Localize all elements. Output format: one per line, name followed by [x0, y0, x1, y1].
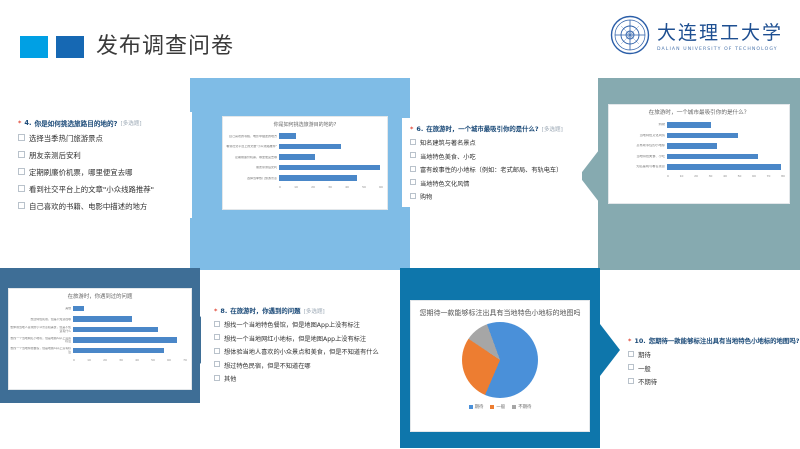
bar-fill: [667, 143, 717, 149]
bar-fill: [73, 348, 164, 354]
option-item[interactable]: 想找一个当地网红小地标，但是地图App上没有标注: [214, 334, 384, 343]
chart-card-q6: 在旅游时，一个城市最吸引你的是什么？ 购物当地特色文化风情富有故事性的小地标当地…: [608, 104, 790, 204]
bar-category-label: 购物: [609, 123, 667, 127]
bar-category-label: 知名建筑与著名景点: [609, 165, 667, 169]
checkbox-icon[interactable]: [18, 185, 25, 192]
axis-tick-label: 40: [723, 174, 727, 178]
bar-fill: [279, 175, 357, 181]
option-label: 不期待: [638, 377, 657, 386]
legend-item: 不期待: [512, 404, 531, 410]
bar-row: 朋友亲测后安利: [223, 163, 383, 172]
bar-row: 想体验当地人喜欢的小众景点和美食，但是不知道有什么: [9, 325, 187, 334]
bar-row: 选择当季热门旅游景点: [223, 174, 383, 183]
bar-fill: [279, 154, 315, 160]
axis-tick-label: 30: [328, 185, 332, 189]
axis-tick-label: 40: [345, 185, 349, 189]
checkbox-icon[interactable]: [628, 378, 634, 384]
bar-category-label: 想找一个当地特色餐馆，但是地图App上没有标注: [9, 347, 73, 354]
bar-track: [279, 132, 383, 141]
bar-fill: [667, 154, 758, 160]
bar-row: 当地特色美食、小吃: [609, 152, 785, 161]
slide-header: 发布调查问卷 大连理工大学 DALIAN UNIVERSITY OF TECHN…: [0, 0, 800, 72]
axis-tick-label: 0: [667, 174, 669, 178]
checkbox-icon[interactable]: [18, 151, 25, 158]
option-label: 想找一个当地网红小地标，但是地图App上没有标注: [224, 334, 366, 343]
bar-chart-q8: 其他想过特色民宿，但是不知道在哪想体验当地人喜欢的小众景点和美食，但是不知道有什…: [9, 304, 191, 362]
option-label: 想找一个当地特色餐馆，但是地图App上没有标注: [224, 320, 360, 329]
option-item[interactable]: 当地特色文化风情: [410, 179, 574, 188]
bar-fill: [279, 165, 380, 171]
axis-tick-label: 20: [311, 185, 315, 189]
bar-row: 自己喜欢的书籍、电影中描述的地方: [223, 132, 383, 141]
checkbox-icon[interactable]: [410, 166, 416, 172]
logo-name-en: DALIAN UNIVERSITY OF TECHNOLOGY: [657, 47, 783, 52]
question-card-q8: * 8. 在旅游时，你遇到的问题 [多选题] 想找一个当地特色餐馆，但是地图Ap…: [206, 300, 392, 389]
option-item[interactable]: 购物: [410, 192, 574, 201]
bar-row: 当地特色文化风情: [609, 131, 785, 140]
option-item[interactable]: 选择当季热门旅游景点: [18, 133, 184, 144]
question-card-q4: * 4. 你是如何挑选旅路目的地的? [多选题] 选择当季热门旅游景点 朋友亲测…: [10, 112, 192, 218]
checkbox-icon[interactable]: [18, 202, 25, 209]
bar-track: [667, 131, 785, 140]
option-item[interactable]: 看到社交平台上的文章"小众线路推荐": [18, 184, 184, 195]
bar-category-label: 想找一个当地网红小地标，但是地图App上没有标注: [9, 337, 73, 344]
bar-category-label: 富有故事性的小地标: [609, 144, 667, 148]
checkbox-icon[interactable]: [214, 321, 220, 327]
arrow-left-teal-icon: [579, 150, 599, 202]
dut-logo-icon: [610, 15, 650, 55]
legend-label: 期待: [475, 404, 484, 410]
option-label: 选择当季热门旅游景点: [29, 133, 103, 144]
question-number: 8.: [220, 307, 227, 315]
university-logo: 大连理工大学 DALIAN UNIVERSITY OF TECHNOLOGY: [610, 12, 788, 58]
bar-fill: [279, 144, 341, 150]
bar-fill: [73, 316, 132, 322]
question-card-q10: * 10. 您期待一款能够标注出具有当地特色小地标的地图吗? 期待 一般 不期待: [620, 330, 792, 392]
bar-chart-q6: 购物当地特色文化风情富有故事性的小地标当地特色美食、小吃知名建筑与著名景点010…: [609, 121, 789, 179]
title-accent-square-dark: [56, 36, 84, 58]
pie-chart-legend: 期待一般不期待: [469, 404, 532, 410]
checkbox-icon[interactable]: [214, 348, 220, 354]
option-label: 自己喜欢的书籍、电影中描述的地方: [29, 201, 147, 212]
axis-tick-label: 70: [767, 174, 771, 178]
chart-x-axis: 010203040506070: [9, 357, 187, 362]
bar-track: [667, 152, 785, 161]
legend-swatch: [490, 405, 494, 409]
option-item[interactable]: 想体验当地人喜欢的小众景点和美食，但是不知道有什么: [214, 347, 384, 356]
legend-item: 一般: [490, 404, 505, 410]
option-label: 想过特色民宿，但是不知道在哪: [224, 361, 311, 370]
bar-row: 想过特色民宿，但是不知道在哪: [9, 315, 187, 324]
bar-row: 其他: [9, 304, 187, 313]
bar-track: [73, 304, 187, 313]
bar-track: [279, 142, 383, 151]
bar-row: 看到社交平台上的文章"小众线路推荐": [223, 142, 383, 151]
option-label: 富有故事性的小地标（例如：老式邮局、有轨电车）: [420, 165, 562, 174]
bar-row: 想找一个当地网红小地标，但是地图App上没有标注: [9, 336, 187, 345]
checkbox-icon[interactable]: [214, 375, 220, 381]
axis-tick-label: 60: [379, 185, 383, 189]
checkbox-icon[interactable]: [18, 168, 25, 175]
bar-row: 定期刷廉价机票，哪里便宜去哪: [223, 153, 383, 162]
axis-tick-label: 50: [738, 174, 742, 178]
legend-swatch: [469, 405, 473, 409]
logo-text-group: 大连理工大学 DALIAN UNIVERSITY OF TECHNOLOGY: [657, 18, 783, 52]
question-options-q10: 期待 一般 不期待: [628, 350, 784, 386]
legend-swatch: [512, 405, 516, 409]
chart-title: 在旅游时，一个城市最吸引你的是什么？: [609, 105, 789, 121]
bar-category-label: 朋友亲测后安利: [223, 166, 279, 169]
title-accent-square-light: [20, 36, 48, 58]
option-item[interactable]: 想过特色民宿，但是不知道在哪: [214, 361, 384, 370]
question-options-q8: 想找一个当地特色餐馆，但是地图App上没有标注 想找一个当地网红小地标，但是地图…: [214, 320, 384, 383]
bar-category-label: 自己喜欢的书籍、电影中描述的地方: [223, 135, 279, 138]
question-text: 在旅游时，你遇到的问题: [230, 306, 300, 315]
bar-category-label: 看到社交平台上的文章"小众线路推荐": [223, 145, 279, 148]
axis-tick-label: 10: [680, 174, 684, 178]
question-title-q6: * 6. 在旅游时，一个城市最吸引你的是什么? [多选题]: [410, 124, 574, 133]
bar-category-label: 想体验当地人喜欢的小众景点和美食，但是不知道有什么: [9, 326, 73, 333]
slide-canvas: 发布调查问卷 大连理工大学 DALIAN UNIVERSITY OF TECHN…: [0, 0, 800, 449]
option-label: 朋友亲测后安利: [29, 150, 81, 161]
axis-tick-label: 0: [73, 358, 75, 362]
chart-x-axis: 01020304050607080: [609, 173, 785, 178]
bar-category-label: 其他: [9, 307, 73, 310]
option-item[interactable]: 期待: [628, 350, 784, 359]
question-card-q6: * 6. 在旅游时，一个城市最吸引你的是什么? [多选题] 知名建筑与著名景点 …: [402, 118, 582, 207]
question-title-q10: * 10. 您期待一款能够标注出具有当地特色小地标的地图吗?: [628, 336, 784, 345]
option-label: 想体验当地人喜欢的小众景点和美食，但是不知道有什么: [224, 347, 379, 356]
bar-category-label: 当地特色美食、小吃: [609, 155, 667, 159]
option-label: 看到社交平台上的文章"小众线路推荐": [29, 184, 154, 195]
bar-row: 知名建筑与著名景点: [609, 163, 785, 172]
option-label: 其他: [224, 374, 236, 383]
checkbox-icon[interactable]: [410, 152, 416, 158]
question-text: 您期待一款能够标注出具有当地特色小地标的地图吗?: [649, 336, 800, 345]
axis-tick-label: 30: [709, 174, 713, 178]
option-item[interactable]: 朋友亲测后安利: [18, 150, 184, 161]
checkbox-icon[interactable]: [214, 334, 220, 340]
bar-category-label: 选择当季热门旅游景点: [223, 177, 279, 180]
checkbox-icon[interactable]: [628, 364, 634, 370]
question-options-q6: 知名建筑与著名景点 当地特色美食、小吃 富有故事性的小地标（例如：老式邮局、有轨…: [410, 138, 574, 201]
checkbox-icon[interactable]: [410, 179, 416, 185]
option-item[interactable]: 一般: [628, 364, 784, 373]
logo-name-cn: 大连理工大学: [657, 18, 783, 45]
bar-fill: [279, 133, 296, 139]
question-text: 你是如何挑选旅路目的地的?: [35, 118, 118, 128]
bar-fill: [73, 337, 177, 343]
question-title-q8: * 8. 在旅游时，你遇到的问题 [多选题]: [214, 306, 384, 315]
arrow-right-blue-icon: [600, 324, 620, 376]
slide-title: 发布调查问卷: [96, 28, 234, 60]
option-label: 当地特色美食、小吃: [420, 152, 476, 161]
checkbox-icon[interactable]: [628, 351, 634, 357]
option-label: 当地特色文化风情: [420, 179, 470, 188]
option-label: 期待: [638, 350, 651, 359]
option-item[interactable]: 当地特色美食、小吃: [410, 152, 574, 161]
required-star-icon: *: [628, 337, 631, 345]
axis-tick-label: 30: [119, 358, 123, 362]
axis-tick-label: 50: [362, 185, 366, 189]
chart-x-axis: 0102030405060: [223, 184, 383, 189]
bar-track: [73, 346, 187, 355]
axis-tick-label: 20: [694, 174, 698, 178]
question-options-q4: 选择当季热门旅游景点 朋友亲测后安利 定期刷廉价机票，哪里便宜去哪 看到社交平台…: [18, 133, 184, 212]
bar-track: [73, 336, 187, 345]
option-item[interactable]: 不期待: [628, 377, 784, 386]
question-type-tag: [多选题]: [542, 125, 563, 133]
axis-tick-label: 60: [752, 174, 756, 178]
bar-fill: [73, 327, 158, 333]
bar-track: [73, 315, 187, 324]
question-title-q4: * 4. 你是如何挑选旅路目的地的? [多选题]: [18, 118, 184, 128]
bar-track: [73, 325, 187, 334]
chart-card-q4: 你是如何挑选旅游目的地的? 自己喜欢的书籍、电影中描述的地方看到社交平台上的文章…: [222, 116, 388, 210]
option-label: 知名建筑与著名景点: [420, 138, 476, 147]
option-item[interactable]: 定期刷廉价机票，哪里便宜去哪: [18, 167, 184, 178]
question-type-tag: [多选题]: [120, 119, 141, 127]
option-label: 购物: [420, 192, 432, 201]
option-item[interactable]: 富有故事性的小地标（例如：老式邮局、有轨电车）: [410, 165, 574, 174]
legend-label: 不期待: [518, 404, 531, 410]
checkbox-icon[interactable]: [18, 134, 25, 141]
legend-item: 期待: [469, 404, 484, 410]
question-type-tag: [多选题]: [304, 307, 325, 315]
axis-tick-label: 10: [294, 185, 298, 189]
bar-fill: [667, 133, 738, 139]
axis-tick-label: 10: [87, 358, 91, 362]
question-text: 在旅游时，一个城市最吸引你的是什么?: [426, 124, 538, 133]
option-item[interactable]: 知名建筑与著名景点: [410, 138, 574, 147]
bar-track: [279, 153, 383, 162]
bar-fill: [667, 164, 781, 170]
required-star-icon: *: [214, 307, 217, 315]
option-label: 一般: [638, 364, 651, 373]
legend-label: 一般: [496, 404, 505, 410]
question-number: 4.: [24, 119, 31, 127]
bar-track: [667, 142, 785, 151]
bar-row: 富有故事性的小地标: [609, 142, 785, 151]
chart-title: 您期待一款能够标注出具有当地特色小地标的地图吗: [411, 301, 589, 320]
pie-chart-graphic: [462, 322, 538, 398]
chart-title: 在旅游时，你遇到过的问题: [9, 289, 191, 304]
axis-tick-label: 20: [103, 358, 107, 362]
axis-tick-label: 40: [135, 358, 139, 362]
bar-track: [279, 174, 383, 183]
pie-chart-wrapper: 期待一般不期待: [411, 322, 589, 410]
question-number: 10.: [634, 337, 645, 345]
option-label: 定期刷廉价机票，哪里便宜去哪: [29, 167, 132, 178]
bar-track: [667, 121, 785, 130]
bar-category-label: 定期刷廉价机票，哪里便宜去哪: [223, 156, 279, 159]
option-item[interactable]: 想找一个当地特色餐馆，但是地图App上没有标注: [214, 320, 384, 329]
required-star-icon: *: [410, 125, 413, 133]
option-item[interactable]: 自己喜欢的书籍、电影中描述的地方: [18, 201, 184, 212]
chart-card-pie: 您期待一款能够标注出具有当地特色小地标的地图吗 期待一般不期待: [410, 300, 590, 432]
checkbox-icon[interactable]: [410, 139, 416, 145]
bar-fill: [667, 122, 711, 128]
bar-chart-q4: 自己喜欢的书籍、电影中描述的地方看到社交平台上的文章"小众线路推荐"定期刷廉价机…: [223, 132, 387, 190]
checkbox-icon[interactable]: [214, 361, 220, 367]
axis-tick-label: 70: [183, 358, 187, 362]
bar-row: 想找一个当地特色餐馆，但是地图App上没有标注: [9, 346, 187, 355]
question-number: 6.: [416, 125, 423, 133]
bar-track: [667, 163, 785, 172]
bar-track: [279, 163, 383, 172]
axis-tick-label: 60: [167, 358, 171, 362]
required-star-icon: *: [18, 119, 21, 127]
chart-title: 你是如何挑选旅游目的地的?: [223, 117, 387, 132]
bar-category-label: 想过特色民宿，但是不知道在哪: [9, 318, 73, 321]
bar-row: 购物: [609, 121, 785, 130]
option-item[interactable]: 其他: [214, 374, 384, 383]
axis-tick-label: 50: [151, 358, 155, 362]
bar-fill: [73, 306, 84, 312]
chart-card-q8: 在旅游时，你遇到过的问题 其他想过特色民宿，但是不知道在哪想体验当地人喜欢的小众…: [8, 288, 192, 390]
bar-category-label: 当地特色文化风情: [609, 134, 667, 138]
axis-tick-label: 80: [781, 174, 785, 178]
axis-tick-label: 0: [279, 185, 281, 189]
checkbox-icon[interactable]: [410, 193, 416, 199]
